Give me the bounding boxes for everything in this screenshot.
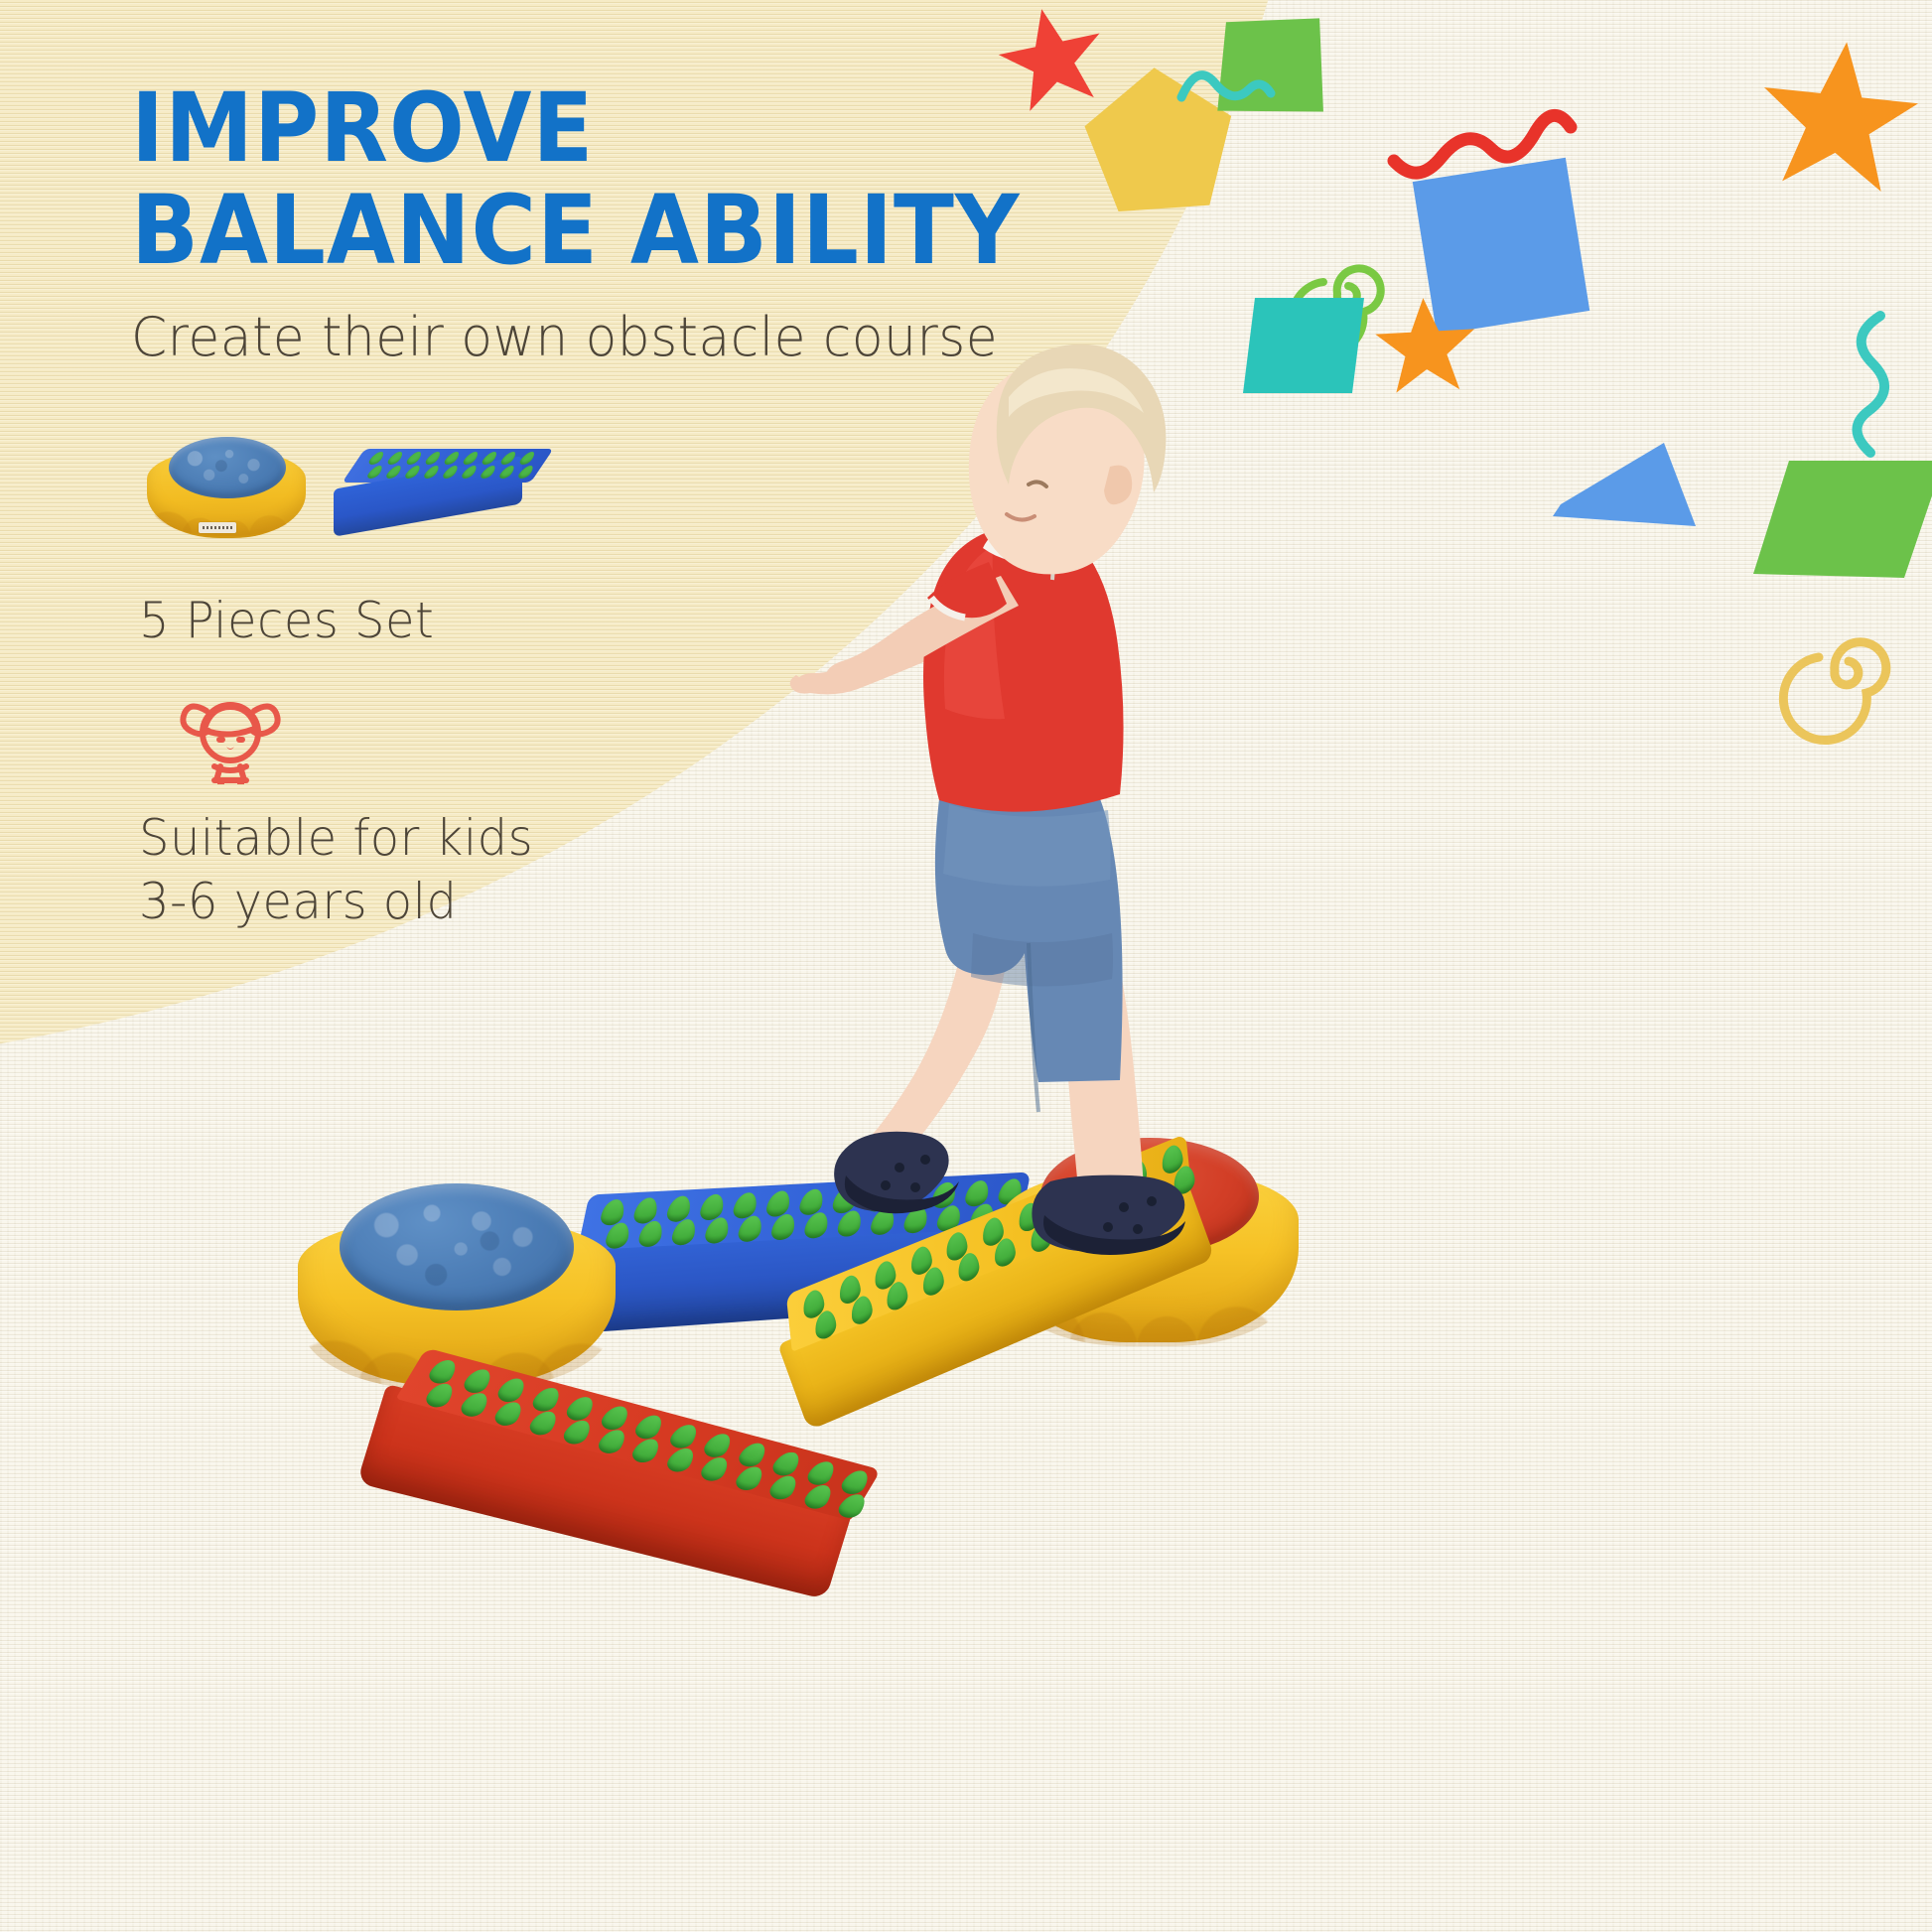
beam-studs xyxy=(348,451,555,483)
beam-stud xyxy=(460,466,480,479)
star-orange-large-icon xyxy=(1754,34,1923,195)
beam-stud xyxy=(494,1376,529,1405)
beam-stud xyxy=(594,1427,628,1455)
feature-thumbnails xyxy=(139,427,556,556)
beam-stud xyxy=(516,466,536,479)
beam-stud xyxy=(703,1217,731,1244)
beam-stud xyxy=(628,1437,663,1465)
feature-age-label: Suitable for kids 3-6 years old xyxy=(139,806,533,933)
beam-stud xyxy=(765,1473,800,1502)
beam-stud xyxy=(422,1381,457,1410)
beam-stud xyxy=(442,452,462,465)
beam-stud xyxy=(737,1215,764,1242)
beam-stud xyxy=(666,1422,701,1450)
beam-stud xyxy=(525,1409,560,1438)
beam-stud xyxy=(732,1464,766,1493)
beam-stud xyxy=(404,452,424,465)
beam-stud xyxy=(670,1219,698,1246)
beam-stud xyxy=(365,466,385,479)
balance-beam-thumbnail xyxy=(334,449,542,548)
beam-stud xyxy=(403,466,423,479)
beam-stud xyxy=(735,1441,769,1469)
beam-stud xyxy=(457,1390,491,1419)
beam-stud xyxy=(700,1431,735,1459)
brand-label xyxy=(199,522,236,533)
beam-stud xyxy=(528,1385,563,1414)
beam-stud xyxy=(631,1413,666,1442)
beam-stud xyxy=(800,1482,835,1511)
beam-stud xyxy=(422,466,442,479)
trapezoid-blue-icon xyxy=(1553,443,1696,526)
trapezoid-green-icon xyxy=(1208,12,1329,122)
squiggle-teal-right-icon xyxy=(1857,316,1884,453)
beam-stud xyxy=(497,466,517,479)
beam-stud xyxy=(697,1454,732,1483)
beam-stud xyxy=(663,1446,698,1474)
stone-textured-top xyxy=(169,437,286,498)
beam-stud xyxy=(479,466,498,479)
spiral-gold-icon xyxy=(1783,642,1885,741)
beam-stud xyxy=(480,452,499,465)
child-balancing-photo xyxy=(774,248,1291,1469)
feature-pieces-label: 5 Pieces Set xyxy=(139,589,434,652)
beam-stud xyxy=(384,466,404,479)
beam-stud xyxy=(423,452,443,465)
stone-textured-top xyxy=(340,1183,574,1311)
beam-stud xyxy=(366,452,386,465)
beam-stud xyxy=(563,1394,598,1423)
beam-stud xyxy=(517,452,537,465)
beam-stud xyxy=(637,1220,665,1247)
beam-stud xyxy=(425,1357,460,1386)
marketing-image: IMPROVE BALANCE ABILITY Create their own… xyxy=(0,0,1932,1932)
kid-face-icon xyxy=(171,681,290,790)
stepping-stone-thumbnail xyxy=(147,427,306,544)
beam-stud xyxy=(385,452,405,465)
beam-stud xyxy=(560,1418,595,1447)
beam-stud xyxy=(460,1366,494,1395)
beam-stud xyxy=(461,452,481,465)
beam-stud xyxy=(491,1400,526,1429)
beam-stud xyxy=(441,466,461,479)
parallelogram-green-icon xyxy=(1753,461,1932,578)
beam-stud xyxy=(498,452,518,465)
beam-stud xyxy=(597,1404,631,1433)
square-blue-icon xyxy=(1413,158,1589,335)
